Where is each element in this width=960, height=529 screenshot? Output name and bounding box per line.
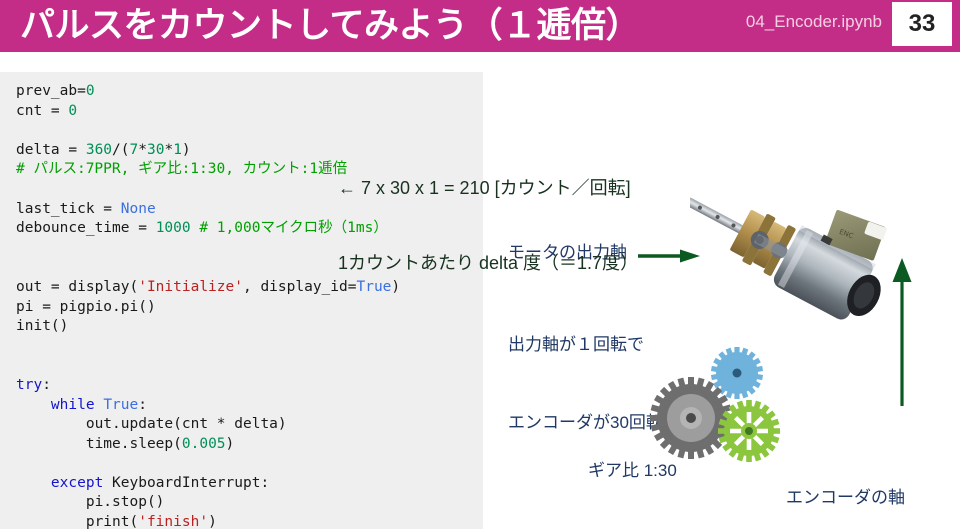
encoder-shaft-annotation: エンコーダの軸 1回転 7 パルス 1 逓倍でカウント <box>786 420 919 529</box>
notebook-filename: 04_Encoder.ipynb <box>746 7 882 37</box>
code-token: 1000 <box>156 220 191 236</box>
count-per-rotation-annotation: ← 7 x 30 x 1 = 210 [カウント／回転] 1カウントあたり de… <box>338 126 638 326</box>
code-token: KeyboardInterrupt: <box>103 475 269 491</box>
code-token <box>95 397 104 413</box>
code-token: pi.stop() <box>16 494 164 510</box>
code-token <box>16 475 51 491</box>
calc-line-1: ← 7 x 30 x 1 = 210 [カウント／回転] <box>338 176 638 201</box>
code-token: * <box>138 142 147 158</box>
code-line <box>16 454 483 474</box>
up-arrow-icon <box>890 258 914 406</box>
code-line: while True: <box>16 396 483 416</box>
code-token: 1 <box>173 142 182 158</box>
code-token: * <box>164 142 173 158</box>
code-token: out.update(cnt <box>16 416 217 432</box>
code-line: except KeyboardInterrupt: <box>16 474 483 494</box>
code-token: last_tick = <box>16 201 121 217</box>
code-token: : <box>138 397 147 413</box>
code-line: time.sleep(0.005) <box>16 435 483 455</box>
code-token: 7 <box>130 142 139 158</box>
gear-ratio-label: ギア比 1:30 <box>588 456 677 481</box>
code-token: ) <box>226 436 235 452</box>
rotation-line-2: エンコーダが30回転 <box>508 410 663 436</box>
code-line: cnt = 0 <box>16 102 483 122</box>
code-line: print('finish') <box>16 513 483 529</box>
code-token: out = display( <box>16 279 138 295</box>
code-token: ) <box>208 514 217 529</box>
gears-illustration <box>645 345 790 470</box>
code-token: 30 <box>147 142 164 158</box>
code-token: * <box>217 416 226 432</box>
code-token: prev_ab= <box>16 83 86 99</box>
code-token: /( <box>112 142 129 158</box>
code-line: pi.stop() <box>16 493 483 513</box>
code-token: debounce_time = <box>16 220 156 236</box>
slide-number-box: 33 <box>892 2 952 46</box>
slide-number: 33 <box>909 10 936 38</box>
encoder-line-1: エンコーダの軸 <box>786 482 919 513</box>
code-token: init() <box>16 318 68 334</box>
geared-motor-photo: ENC <box>690 192 915 342</box>
code-token: 'finish' <box>138 514 208 529</box>
code-line <box>16 337 483 357</box>
code-line: out.update(cnt * delta) <box>16 415 483 435</box>
code-line: prev_ab=0 <box>16 82 483 102</box>
code-token: ) <box>182 142 191 158</box>
code-token: try <box>16 377 42 393</box>
code-token: None <box>121 201 156 217</box>
code-line <box>16 356 483 376</box>
code-token: 0 <box>86 83 95 99</box>
code-token: time.sleep( <box>16 436 182 452</box>
code-token: cnt = <box>16 103 68 119</box>
code-token: 'Initialize' <box>138 279 243 295</box>
code-token: while <box>51 397 95 413</box>
rotation-line-1: 出力軸が１回転で <box>508 332 663 358</box>
code-token: : <box>42 377 51 393</box>
code-token: delta) <box>226 416 287 432</box>
code-token: except <box>51 475 103 491</box>
code-line: try: <box>16 376 483 396</box>
code-token: 0.005 <box>182 436 226 452</box>
code-token: 360 <box>86 142 112 158</box>
code-token: 0 <box>68 103 77 119</box>
code-token: delta = <box>16 142 86 158</box>
code-token: print( <box>16 514 138 529</box>
code-token: pi = pigpio.pi() <box>16 299 156 315</box>
calc-line-2: 1カウントあたり delta 度（＝1.7度） <box>338 251 638 276</box>
code-token: True <box>103 397 138 413</box>
code-token: # パルス:7PPR, ギア比:1:30, カウント:1逓倍 <box>16 161 347 177</box>
code-token <box>16 397 51 413</box>
page-title: パルスをカウントしてみよう（１逓倍） <box>20 2 640 50</box>
slide-root: パルスをカウントしてみよう（１逓倍） 04_Encoder.ipynb 33 p… <box>0 0 960 529</box>
gear-large-gray <box>650 377 732 459</box>
